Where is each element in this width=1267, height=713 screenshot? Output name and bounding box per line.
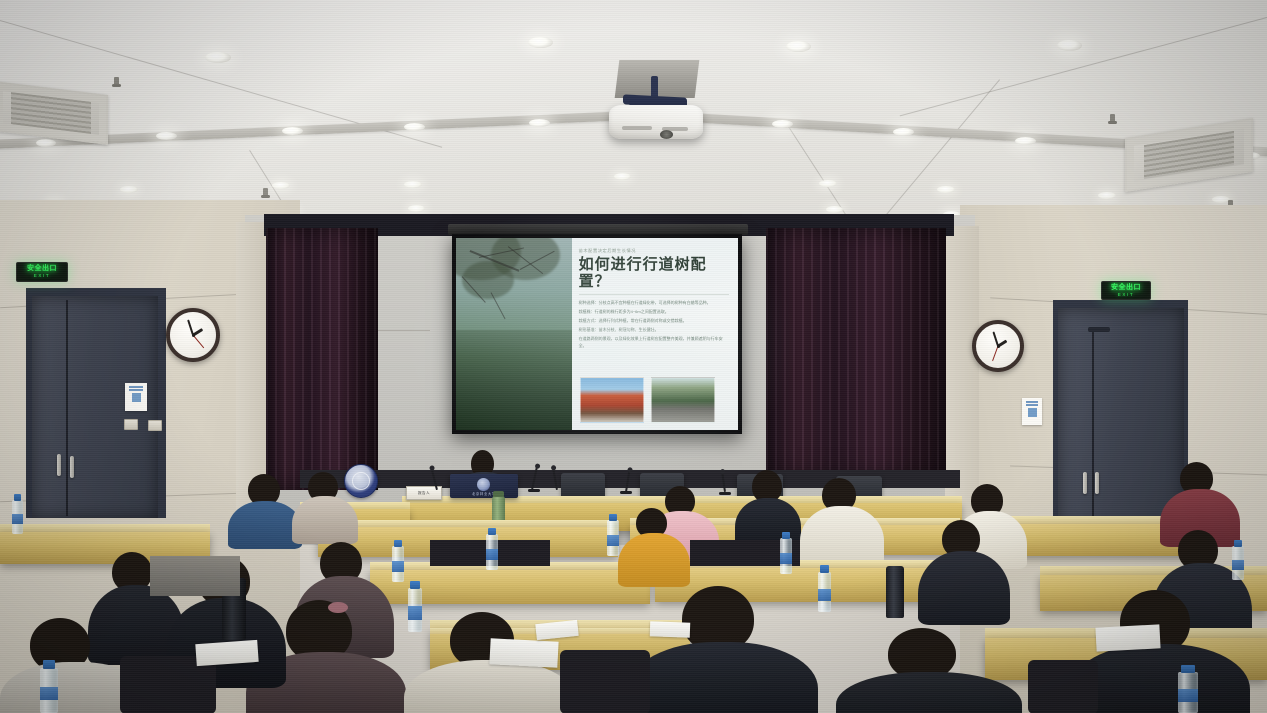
audience-member — [292, 472, 358, 542]
water-bottle — [1178, 672, 1198, 713]
wall-notice-left — [125, 383, 147, 411]
wall-notice-right — [1022, 398, 1042, 425]
ceiling-projector — [609, 105, 703, 139]
downlight — [205, 52, 231, 63]
audience-member — [228, 474, 302, 546]
paper-sheet — [489, 638, 558, 668]
water-bottle — [486, 534, 498, 570]
downlight — [36, 139, 56, 147]
wall-clock-left — [166, 308, 220, 362]
person-torso — [618, 533, 690, 587]
door-leaf-divider — [1092, 332, 1094, 530]
downlight — [826, 206, 843, 213]
chair-back — [1028, 660, 1098, 713]
downlight — [282, 127, 303, 135]
downlight — [529, 119, 550, 127]
paper-sheet — [1095, 624, 1160, 651]
clock-center-pin — [192, 334, 195, 337]
slide-image-autumn-avenue — [580, 377, 644, 423]
paper-sheet — [650, 621, 690, 637]
downlight — [819, 180, 837, 187]
exit-sign-left: 安全出口 EXIT — [16, 262, 68, 282]
audience-member-foreground — [628, 586, 818, 713]
chair-back — [560, 650, 650, 713]
projector-lens — [660, 130, 673, 139]
exit-sign-label-en: EXIT — [1118, 292, 1134, 298]
sprinkler-head — [114, 77, 119, 86]
downlight — [404, 181, 422, 188]
door-handle-left[interactable] — [70, 456, 74, 478]
nameplate-text: 报告人 — [418, 491, 430, 496]
slide-title: 如何进行行道树配置？ — [579, 256, 729, 290]
water-bottle — [1232, 546, 1244, 580]
water-bottle — [607, 520, 619, 556]
exit-sign-label-en: EXIT — [34, 273, 50, 279]
water-bottle — [40, 668, 58, 713]
downlight — [786, 41, 811, 52]
slide-content: 苗木配置决定后期生长情况 如何进行行道树配置？ 树种选择：分枝点高不宜种植在行道… — [456, 238, 738, 430]
audience-member — [800, 478, 884, 562]
person-torso — [404, 660, 574, 713]
slide-paragraph: 树形基准：苗木分枝、树冠匀称、生长健壮。 — [579, 327, 729, 334]
sprinkler-head — [1110, 114, 1115, 123]
downlight — [156, 132, 177, 140]
clock-minute-hand — [187, 319, 194, 335]
wall-clock-right — [972, 320, 1024, 372]
stage-curtain-left — [266, 228, 378, 490]
hair-clip — [328, 602, 348, 613]
slide-paragraph: 栽植方式：选择行列式种植，常在行道两侧对称或交错栽植。 — [579, 318, 729, 325]
thermos-cap — [493, 491, 504, 497]
downlight — [772, 120, 793, 128]
slide-paragraph: 在道路两侧的景观，以及绿化效果上行道树应配置整齐美观，并兼顾遮阴与行车安全。 — [579, 336, 729, 349]
presenter-laptop[interactable]: 北京林业大学 — [450, 474, 518, 500]
slide-image-row — [580, 377, 715, 423]
door-leaf-divider — [66, 300, 68, 516]
exit-sign-label-cn: 安全出口 — [27, 265, 57, 273]
water-bottle — [780, 538, 792, 574]
person-torso — [836, 672, 1022, 713]
slide-image-tree-lined-road — [651, 377, 715, 423]
downlight — [1015, 137, 1036, 145]
sprinkler-head — [263, 188, 268, 197]
downlight — [120, 186, 138, 193]
audience-member — [735, 470, 801, 544]
audience-member — [918, 520, 1010, 620]
clock-second-hand — [193, 335, 205, 349]
clock-center-pin — [997, 345, 1000, 348]
laptop-emblem-icon — [477, 478, 490, 491]
downlight — [404, 123, 425, 131]
downlight — [1057, 40, 1082, 51]
water-bottle — [12, 500, 23, 534]
projector-vent — [622, 126, 652, 130]
laptop-brand-text: 北京林业大学 — [450, 491, 518, 496]
downlight — [408, 205, 425, 212]
microphone-base — [620, 491, 632, 494]
floor-step — [150, 556, 240, 596]
slide-paragraph: 栽植株：行道树的株行距多为4~6m之间配置选取。 — [579, 309, 729, 316]
water-bottle — [818, 572, 831, 612]
slide-divider — [579, 294, 729, 295]
person-torso — [228, 501, 302, 549]
downlight — [1098, 192, 1116, 199]
projection-screen: 苗木配置决定后期生长情况 如何进行行道树配置？ 树种选择：分枝点高不宜种植在行道… — [452, 234, 742, 434]
door-handle-right[interactable] — [1083, 472, 1087, 494]
door-handle-left[interactable] — [57, 454, 61, 476]
slide-text-body: 苗木配置决定后期生长情况 如何进行行道树配置？ 树种选择：分枝点高不宜种植在行道… — [572, 238, 738, 430]
lecture-hall-photo: 苗木配置决定后期生长情况 如何进行行道树配置？ 树种选择：分枝点高不宜种植在行道… — [0, 0, 1267, 713]
exit-sign-label-cn: 安全出口 — [1111, 284, 1141, 292]
light-switch[interactable] — [148, 420, 162, 431]
downlight — [937, 186, 955, 193]
light-switch[interactable] — [124, 419, 138, 430]
door-handle-right[interactable] — [1095, 472, 1099, 494]
microphone-base — [528, 489, 540, 492]
person-torso — [918, 551, 1010, 625]
slide-eyebrow: 苗木配置决定后期生长情况 — [579, 248, 729, 254]
downlight — [614, 173, 631, 180]
audience-member — [618, 508, 690, 582]
water-bottle — [392, 546, 404, 582]
audience-member-foreground — [836, 628, 1022, 713]
laptop-lid: 北京林业大学 — [450, 474, 518, 498]
downlight — [528, 37, 553, 48]
person-torso — [292, 496, 358, 544]
slide-photo-streettrees — [456, 238, 572, 430]
downlight — [272, 182, 290, 189]
stage-curtain-right — [766, 228, 946, 478]
slide-paragraph: 树种选择：分枝点高不宜种植在行道绿化带，可选择的树种有白蜡等品种。 — [579, 300, 729, 307]
water-bottle — [408, 588, 422, 632]
clock-second-hand — [992, 346, 998, 361]
exit-sign-right: 安全出口 EXIT — [1101, 281, 1151, 300]
downlight — [893, 128, 914, 136]
thermos-bottle — [886, 566, 904, 618]
person-torso — [800, 506, 884, 566]
microphone-base — [719, 492, 731, 495]
person-torso — [628, 642, 818, 713]
paper-sheet — [195, 640, 258, 666]
